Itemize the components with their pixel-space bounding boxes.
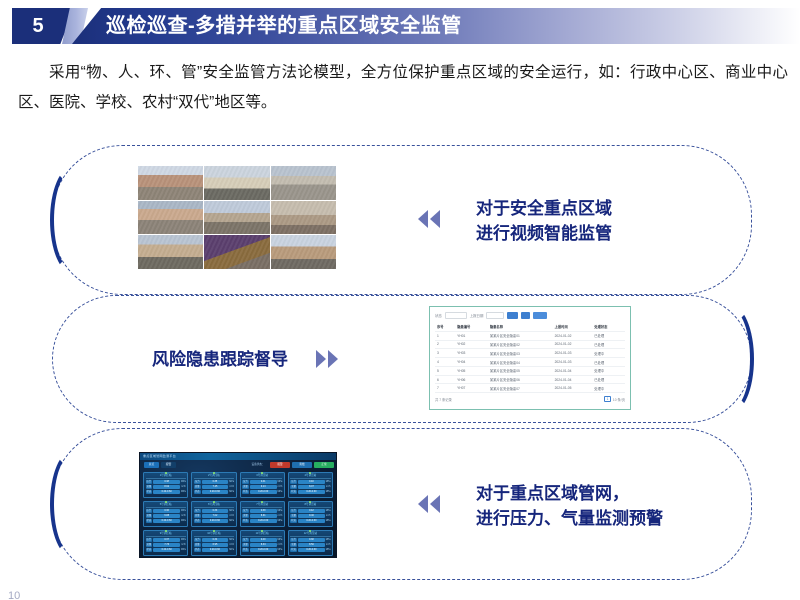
range-unit: MPa xyxy=(229,549,234,551)
device-card-title: 4号调压站 xyxy=(290,474,330,479)
page-title: 巡检巡查-多措并举的重点区域安全监管 xyxy=(106,8,462,44)
device-card[interactable]: 7号调压站压力0.39MPa流量8.91m³/h状态0.20-0.60MPa xyxy=(240,501,285,527)
pressure-label: 压力 xyxy=(242,480,249,484)
photo-thumbnail xyxy=(271,201,336,235)
device-card[interactable]: 3号调压站压力0.41MPa流量9.13m³/h状态0.20-0.60MPa xyxy=(240,472,285,498)
pressure-label: 压力 xyxy=(242,509,249,513)
pressure-value: 0.39 xyxy=(250,509,277,513)
row-accent-arc-right xyxy=(708,305,754,413)
range-value: 0.20-0.60 xyxy=(250,490,277,494)
flow-value: 8.62 xyxy=(153,485,180,489)
cell-index: 4 xyxy=(435,358,455,367)
device-card[interactable]: 10号调压站压力0.34MPa流量6.95m³/h状态0.20-0.60MPa xyxy=(191,530,236,556)
column-header-status: 处理状态 xyxy=(592,323,625,331)
flow-value: 7.02 xyxy=(202,514,229,518)
pressure-label: 压力 xyxy=(194,509,201,513)
flow-unit: m³/h xyxy=(278,486,283,488)
pressure-value: 0.41 xyxy=(250,480,277,484)
cell-name: 某某片区安全隐患07 xyxy=(488,384,553,393)
photo-thumbnail xyxy=(138,235,203,269)
photo-thumbnail xyxy=(271,235,336,269)
pressure-label: 压力 xyxy=(194,480,201,484)
table-toolbar: 状态 上报日期 xyxy=(435,311,625,320)
caption-video-monitoring: 对于安全重点区域 进行视频智能监管 xyxy=(476,196,612,246)
flow-unit: m³/h xyxy=(181,486,186,488)
range-unit: MPa xyxy=(181,491,186,493)
caption-risk-tracking: 风险隐患跟踪督导 xyxy=(152,347,288,372)
flow-value: 6.95 xyxy=(202,543,229,547)
page-size-label[interactable]: 10 条/页 xyxy=(613,397,625,402)
pressure-unit: MPa xyxy=(181,510,186,512)
flow-unit: m³/h xyxy=(229,515,234,517)
status-label: 状态 xyxy=(146,519,153,523)
pressure-unit: MPa xyxy=(278,481,283,483)
status-label: 状态 xyxy=(194,548,201,552)
flow-value: 8.50 xyxy=(298,543,325,547)
pressure-unit: MPa xyxy=(181,481,186,483)
device-card[interactable]: 8号调压站压力0.42MPa流量9.40m³/h状态0.20-0.60MPa xyxy=(288,501,333,527)
status-dot-icon xyxy=(213,530,215,532)
device-card-grid: 1号调压站压力0.38MPa流量8.62m³/h状态0.20-0.60MPa 2… xyxy=(140,469,336,558)
device-card[interactable]: 2号调压站压力0.35MPa流量7.45m³/h状态0.20-0.60MPa xyxy=(191,472,236,498)
pressure-label: 压力 xyxy=(146,480,153,484)
flow-value: 9.13 xyxy=(250,485,277,489)
pressure-unit: MPa xyxy=(278,539,283,541)
cell-code: YH03 xyxy=(455,349,488,358)
flow-value: 8.91 xyxy=(250,514,277,518)
status-label: 状态 xyxy=(146,490,153,494)
cell-status: 处理中 xyxy=(592,384,625,393)
status-dot-icon xyxy=(261,472,263,474)
toolbar-add-button[interactable] xyxy=(533,312,547,319)
cell-time: 2024-01-02 xyxy=(553,331,593,340)
device-card-title: 9号调压站 xyxy=(146,532,186,537)
flow-label: 流量 xyxy=(242,514,249,518)
table-row[interactable]: 5 YH05 某某片区安全隐患05 2024-01-04 处理中 xyxy=(435,366,625,375)
device-card-title: 10号调压站 xyxy=(194,532,234,537)
column-header-code: 隐患编号 xyxy=(455,323,488,331)
status-dot-icon xyxy=(165,472,167,474)
range-value: 0.20-0.60 xyxy=(250,519,277,523)
risk-table-screenshot: 状态 上报日期 序号 隐患编号 隐患名称 上报时间 处理状态 1 xyxy=(429,306,631,410)
table-row[interactable]: 2 YH02 某某片区安全隐患02 2024-01-02 已处理 xyxy=(435,340,625,349)
flow-value: 6.88 xyxy=(153,514,180,518)
cell-time: 2024-01-04 xyxy=(553,375,593,384)
cell-index: 7 xyxy=(435,384,455,393)
flow-label: 流量 xyxy=(194,485,201,489)
flow-value: 9.40 xyxy=(298,514,325,518)
cell-code: YH05 xyxy=(455,366,488,375)
pressure-value: 0.35 xyxy=(202,480,229,484)
dashboard-subbar: 总览 报警 设备状态： 报警 离线 正常 xyxy=(140,460,336,469)
photo-thumbnail xyxy=(271,166,336,200)
range-value: 0.20-0.60 xyxy=(153,490,180,494)
device-card[interactable]: 4号调压站压力0.40MPa流量8.07m³/h状态0.20-0.60MPa xyxy=(288,472,333,498)
pressure-label: 压力 xyxy=(290,480,297,484)
cell-time: 2024-01-04 xyxy=(553,366,593,375)
flow-label: 流量 xyxy=(242,485,249,489)
pressure-value: 0.33 xyxy=(202,509,229,513)
status-label: 状态 xyxy=(290,519,297,523)
range-unit: MPa xyxy=(229,491,234,493)
range-unit: MPa xyxy=(181,520,186,522)
device-card-title: 12号调压站 xyxy=(290,532,330,537)
chevron-right-icon xyxy=(328,350,338,368)
slide-number: 5 xyxy=(12,8,64,44)
row-accent-arc-left xyxy=(50,450,96,558)
cell-status: 处理中 xyxy=(592,366,625,375)
intro-paragraph: 采用“物、人、环、管”安全监管方法论模型，全方位保护重点区域的安全运行，如：行政… xyxy=(18,58,788,118)
dashboard-tab-overview[interactable]: 总览 xyxy=(144,462,159,468)
table-header-row: 序号 隐患编号 隐患名称 上报时间 处理状态 xyxy=(435,323,625,331)
dashboard-tab-alarm[interactable]: 报警 xyxy=(161,462,176,468)
device-card-title: 6号调压站 xyxy=(194,503,234,508)
status-label: 状态 xyxy=(194,490,201,494)
legend-normal: 正常 xyxy=(314,462,334,468)
pressure-value: 0.38 xyxy=(298,538,325,542)
caption-pipeline-monitoring: 对于重点区域管网， 进行压力、气量监测预警 xyxy=(476,481,663,531)
slide-header: 5 巡检巡查-多措并举的重点区域安全监管 xyxy=(0,8,800,44)
dashboard-titlebar: 重点区域管网监测平台 xyxy=(140,453,336,460)
legend-alarm: 报警 xyxy=(270,462,290,468)
flow-label: 流量 xyxy=(290,514,297,518)
pressure-value: 0.34 xyxy=(202,538,229,542)
row-accent-arc-left xyxy=(50,166,96,274)
pressure-unit: MPa xyxy=(229,539,234,541)
device-card-title: 1号调压站 xyxy=(146,474,186,479)
pressure-unit: MPa xyxy=(181,539,186,541)
flow-unit: m³/h xyxy=(229,486,234,488)
chevron-left-group-row1 xyxy=(418,210,440,228)
flow-value: 7.76 xyxy=(153,543,180,547)
status-dot-icon xyxy=(261,530,263,532)
flow-unit: m³/h xyxy=(181,544,186,546)
range-value: 0.20-0.60 xyxy=(298,548,325,552)
photo-thumbnail xyxy=(138,201,203,235)
cell-code: YH06 xyxy=(455,375,488,384)
column-header-index: 序号 xyxy=(435,323,455,331)
table-row[interactable]: 6 YH06 某某片区安全隐患06 2024-01-04 已处理 xyxy=(435,375,625,384)
device-card[interactable]: 12号调压站压力0.38MPa流量8.50m³/h状态0.20-0.60MPa xyxy=(288,530,333,556)
range-value: 0.20-0.60 xyxy=(250,548,277,552)
flow-label: 流量 xyxy=(146,514,153,518)
cell-code: YH01 xyxy=(455,331,488,340)
legend-label: 设备状态： xyxy=(248,462,268,468)
chevron-right-group-row2 xyxy=(316,350,338,368)
photo-thumbnail xyxy=(138,166,203,200)
device-card-title: 7号调压站 xyxy=(242,503,282,508)
flow-label: 流量 xyxy=(194,514,201,518)
flow-unit: m³/h xyxy=(326,544,331,546)
range-value: 0.20-0.60 xyxy=(153,519,180,523)
risk-data-table: 序号 隐患编号 隐患名称 上报时间 处理状态 1 YH01 某某片区安全隐患01… xyxy=(435,323,625,393)
flow-value: 7.45 xyxy=(202,485,229,489)
device-card[interactable]: 1号调压站压力0.38MPa流量8.62m³/h状态0.20-0.60MPa xyxy=(143,472,188,498)
range-unit: MPa xyxy=(278,549,283,551)
cell-code: YH02 xyxy=(455,340,488,349)
status-label: 状态 xyxy=(290,548,297,552)
pressure-value: 0.40 xyxy=(298,480,325,484)
table-row[interactable]: 3 YH03 某某片区安全隐患03 2024-01-03 处理中 xyxy=(435,349,625,358)
status-label: 状态 xyxy=(146,548,153,552)
status-dot-icon xyxy=(213,472,215,474)
cell-index: 1 xyxy=(435,331,455,340)
village-photo-grid xyxy=(138,166,336,269)
cell-status: 处理中 xyxy=(592,349,625,358)
pressure-label: 压力 xyxy=(146,509,153,513)
flow-unit: m³/h xyxy=(229,544,234,546)
device-card-title: 2号调压站 xyxy=(194,474,234,479)
pressure-value: 0.38 xyxy=(153,480,180,484)
pressure-unit: MPa xyxy=(326,539,331,541)
cell-name: 某某片区安全隐患03 xyxy=(488,349,553,358)
pressure-unit: MPa xyxy=(326,481,331,483)
status-label: 状态 xyxy=(290,490,297,494)
range-unit: MPa xyxy=(326,549,331,551)
column-header-name: 隐患名称 xyxy=(488,323,553,331)
pressure-unit: MPa xyxy=(229,510,234,512)
status-dot-icon xyxy=(165,501,167,503)
status-label: 状态 xyxy=(194,519,201,523)
photo-thumbnail xyxy=(204,166,269,200)
chevron-left-group-row3 xyxy=(418,495,440,513)
pressure-label: 压力 xyxy=(290,509,297,513)
cell-index: 2 xyxy=(435,340,455,349)
chevron-left-icon xyxy=(430,210,440,228)
status-dot-icon xyxy=(261,501,263,503)
toolbar-date-input[interactable] xyxy=(486,312,504,319)
table-footer: 共 7 条记录 1 10 条/页 xyxy=(435,396,625,402)
status-label: 状态 xyxy=(242,548,249,552)
pressure-unit: MPa xyxy=(278,510,283,512)
flow-label: 流量 xyxy=(146,543,153,547)
pressure-value: 0.36 xyxy=(153,509,180,513)
page-number-mark: 10 xyxy=(8,590,20,600)
toolbar-search-button[interactable] xyxy=(507,312,518,319)
range-value: 0.20-0.60 xyxy=(153,548,180,552)
range-unit: MPa xyxy=(326,520,331,522)
cell-time: 2024-01-02 xyxy=(553,340,593,349)
flow-label: 流量 xyxy=(290,543,297,547)
cell-name: 某某片区安全隐患05 xyxy=(488,366,553,375)
status-label: 状态 xyxy=(242,490,249,494)
range-unit: MPa xyxy=(326,491,331,493)
legend-offline: 离线 xyxy=(292,462,312,468)
flow-unit: m³/h xyxy=(278,544,283,546)
range-value: 0.20-0.60 xyxy=(202,490,229,494)
flow-label: 流量 xyxy=(290,485,297,489)
status-dot-icon xyxy=(309,472,311,474)
flow-unit: m³/h xyxy=(326,515,331,517)
table-row[interactable]: 1 YH01 某某片区安全隐患01 2024-01-02 已处理 xyxy=(435,331,625,340)
range-unit: MPa xyxy=(229,520,234,522)
cell-time: 2024-01-03 xyxy=(553,349,593,358)
device-card[interactable]: 11号调压站压力0.40MPa流量8.33m³/h状态0.20-0.60MPa xyxy=(240,530,285,556)
pressure-value: 0.37 xyxy=(153,538,180,542)
chevron-left-icon xyxy=(418,210,428,228)
device-card-title: 3号调压站 xyxy=(242,474,282,479)
range-value: 0.20-0.60 xyxy=(202,548,229,552)
cell-name: 某某片区安全隐患06 xyxy=(488,375,553,384)
pagination[interactable]: 1 10 条/页 xyxy=(604,396,625,402)
photo-thumbnail xyxy=(204,235,269,269)
range-value: 0.20-0.60 xyxy=(298,519,325,523)
pressure-label: 压力 xyxy=(146,538,153,542)
cell-status: 已处理 xyxy=(592,340,625,349)
pressure-label: 压力 xyxy=(194,538,201,542)
range-value: 0.20-0.60 xyxy=(298,490,325,494)
device-card[interactable]: 5号调压站压力0.36MPa流量6.88m³/h状态0.20-0.60MPa xyxy=(143,501,188,527)
flow-label: 流量 xyxy=(194,543,201,547)
flow-value: 8.07 xyxy=(298,485,325,489)
photo-thumbnail xyxy=(204,201,269,235)
device-card[interactable]: 6号调压站压力0.33MPa流量7.02m³/h状态0.20-0.60MPa xyxy=(191,501,236,527)
chevron-left-icon xyxy=(418,495,428,513)
cell-code: YH04 xyxy=(455,358,488,367)
header-title-bar: 巡检巡查-多措并举的重点区域安全监管 xyxy=(72,8,800,44)
status-dot-icon xyxy=(309,501,311,503)
status-dot-icon xyxy=(309,530,311,532)
cell-name: 某某片区安全隐患01 xyxy=(488,331,553,340)
column-header-time: 上报时间 xyxy=(553,323,593,331)
cell-name: 某某片区安全隐患02 xyxy=(488,340,553,349)
cell-status: 已处理 xyxy=(592,358,625,367)
cell-index: 6 xyxy=(435,375,455,384)
cell-index: 5 xyxy=(435,366,455,375)
flow-unit: m³/h xyxy=(278,515,283,517)
pressure-label: 压力 xyxy=(242,538,249,542)
pressure-value: 0.42 xyxy=(298,509,325,513)
chevron-right-icon xyxy=(316,350,326,368)
pressure-unit: MPa xyxy=(229,481,234,483)
toolbar-label-status: 状态 xyxy=(435,313,442,318)
cell-code: YH07 xyxy=(455,384,488,393)
pipeline-monitoring-dashboard: 重点区域管网监测平台 总览 报警 设备状态： 报警 离线 正常 1号调压站压力0… xyxy=(139,452,337,558)
toolbar-label-date: 上报日期 xyxy=(470,313,484,318)
toolbar-reset-button[interactable] xyxy=(521,312,530,319)
device-card-title: 11号调压站 xyxy=(242,532,282,537)
slide: 5 巡检巡查-多措并举的重点区域安全监管 采用“物、人、环、管”安全监管方法论模… xyxy=(0,0,800,600)
device-card-title: 5号调压站 xyxy=(146,503,186,508)
flow-label: 流量 xyxy=(146,485,153,489)
range-unit: MPa xyxy=(181,549,186,551)
cell-time: 2024-01-03 xyxy=(553,358,593,367)
toolbar-select-status[interactable] xyxy=(445,312,467,319)
table-row[interactable]: 7 YH07 某某片区安全隐患07 2024-01-05 处理中 xyxy=(435,384,625,393)
status-label: 状态 xyxy=(242,519,249,523)
flow-unit: m³/h xyxy=(326,486,331,488)
chevron-left-icon xyxy=(430,495,440,513)
range-unit: MPa xyxy=(278,491,283,493)
dashboard-title: 重点区域管网监测平台 xyxy=(143,454,176,458)
cell-status: 已处理 xyxy=(592,331,625,340)
status-dot-icon xyxy=(165,530,167,532)
range-unit: MPa xyxy=(278,520,283,522)
pressure-unit: MPa xyxy=(326,510,331,512)
flow-label: 流量 xyxy=(242,543,249,547)
cell-name: 某某片区安全隐患04 xyxy=(488,358,553,367)
table-row[interactable]: 4 YH04 某某片区安全隐患04 2024-01-03 已处理 xyxy=(435,358,625,367)
flow-unit: m³/h xyxy=(181,515,186,517)
flow-value: 8.33 xyxy=(250,543,277,547)
status-dot-icon xyxy=(213,501,215,503)
cell-status: 已处理 xyxy=(592,375,625,384)
pressure-label: 压力 xyxy=(290,538,297,542)
range-value: 0.20-0.60 xyxy=(202,519,229,523)
cell-time: 2024-01-05 xyxy=(553,384,593,393)
page-number[interactable]: 1 xyxy=(604,396,611,402)
record-count-label: 共 7 条记录 xyxy=(435,397,452,402)
pressure-value: 0.40 xyxy=(250,538,277,542)
cell-index: 3 xyxy=(435,349,455,358)
device-card-title: 8号调压站 xyxy=(290,503,330,508)
device-card[interactable]: 9号调压站压力0.37MPa流量7.76m³/h状态0.20-0.60MPa xyxy=(143,530,188,556)
